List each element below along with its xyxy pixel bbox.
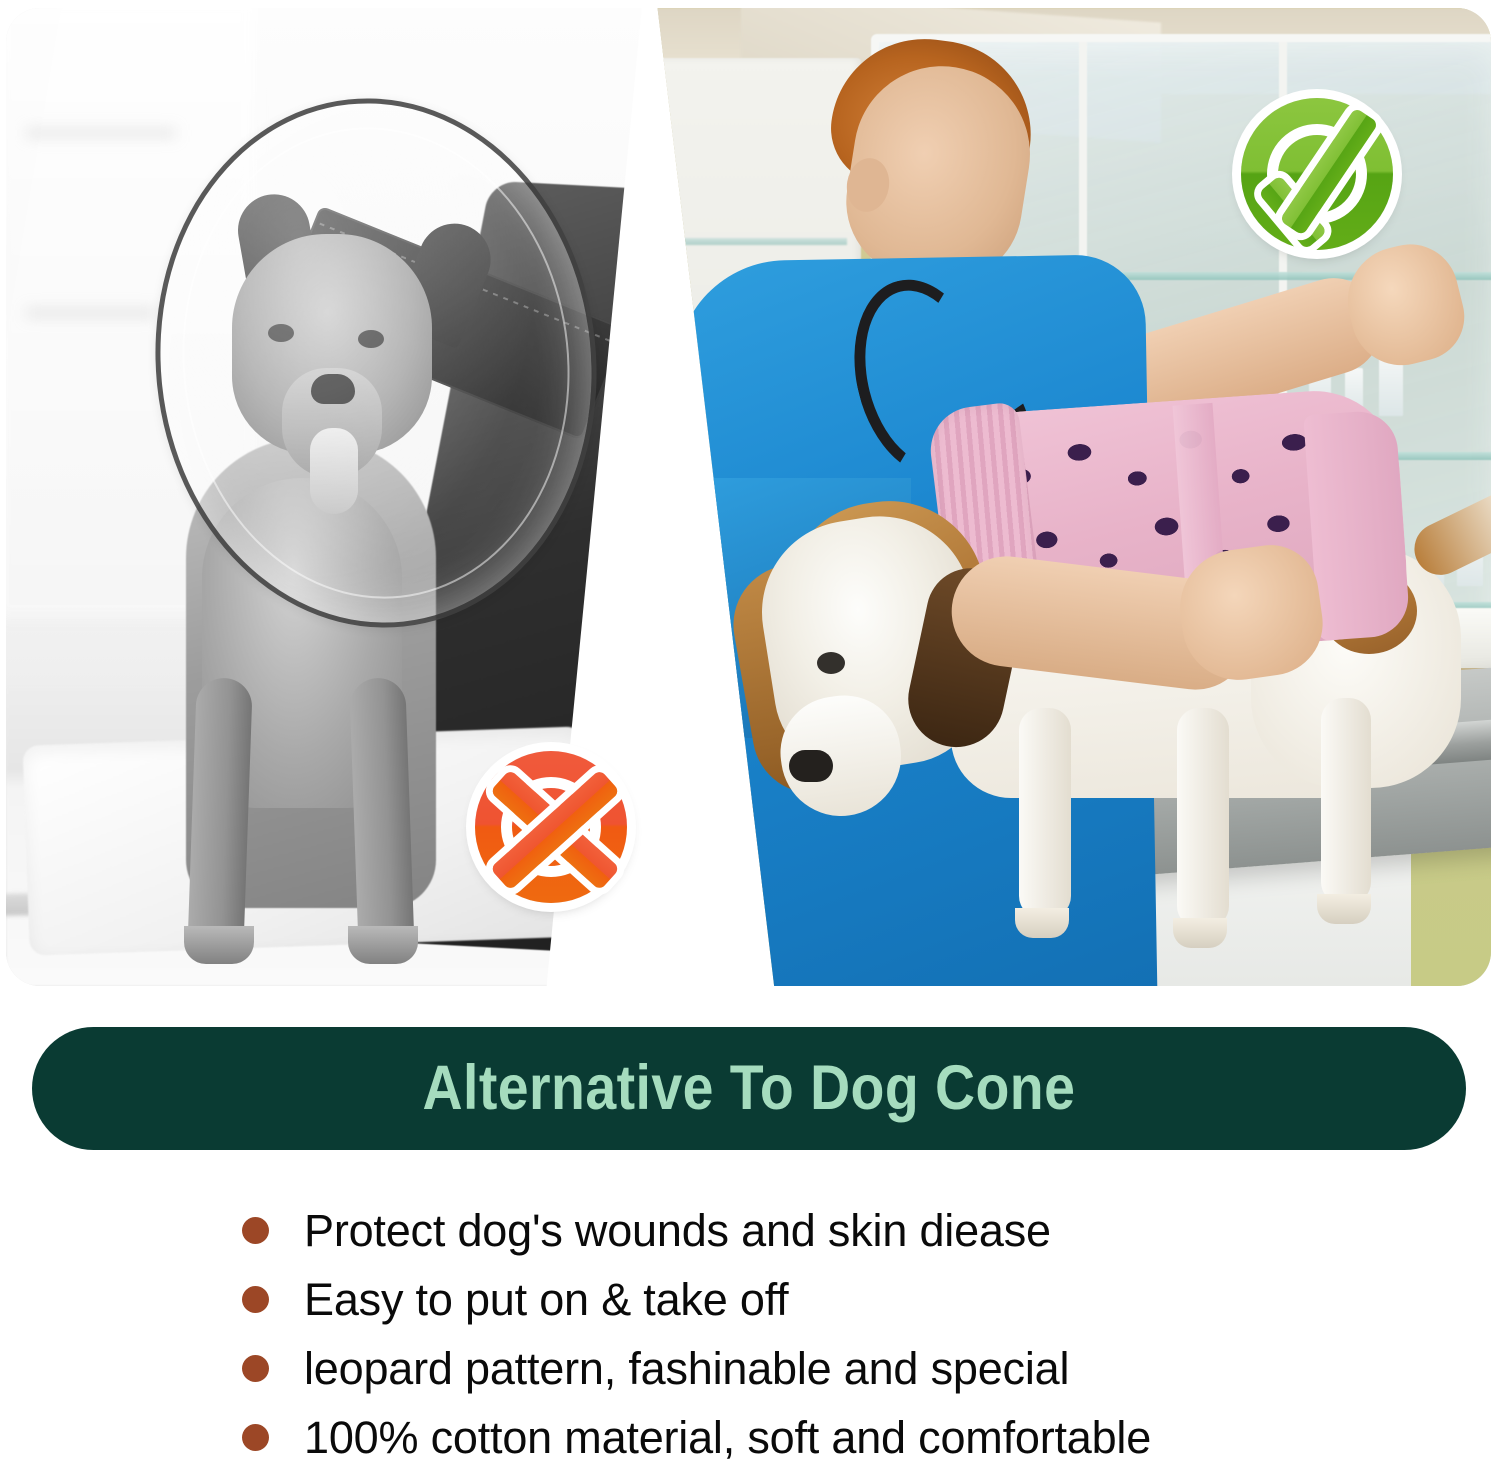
bullet-dot-icon	[242, 1424, 269, 1451]
beagle-paw	[1015, 908, 1069, 938]
bullet-dot-icon	[242, 1286, 269, 1313]
feature-text: Protect dog's wounds and skin diease	[304, 1208, 1051, 1253]
left-shelf-line	[26, 128, 176, 138]
left-shelf-line	[26, 308, 156, 318]
beagle-leg-rear	[1321, 698, 1371, 904]
cone-inner-ring	[159, 108, 592, 618]
list-item: Protect dog's wounds and skin diease	[0, 1196, 1497, 1265]
beagle-eye	[817, 652, 845, 674]
bullet-dot-icon	[242, 1355, 269, 1382]
beagle-leg-front	[1019, 708, 1071, 918]
comparison-hero	[0, 0, 1497, 995]
beagle-nose	[789, 750, 833, 782]
cone-dog-paw-right	[348, 926, 418, 964]
headline-banner: Alternative To Dog Cone	[32, 1027, 1466, 1150]
beagle-paw	[1317, 894, 1371, 924]
bullet-dot-icon	[242, 1217, 269, 1244]
feature-text: 100% cotton material, soft and comfortab…	[304, 1415, 1151, 1460]
list-item: leopard pattern, fashinable and special	[0, 1334, 1497, 1403]
page-title: Alternative To Dog Cone	[423, 1057, 1076, 1120]
list-item: Easy to put on & take off	[0, 1265, 1497, 1334]
cabinet-shelf	[625, 238, 847, 245]
cone-dog-leg-left	[187, 677, 253, 959]
cross-x-icon	[463, 739, 639, 915]
beagle-paw	[1173, 918, 1227, 948]
feature-text: leopard pattern, fashinable and special	[304, 1346, 1069, 1391]
list-item: 100% cotton material, soft and comfortab…	[0, 1403, 1497, 1472]
check-mark-icon	[1229, 86, 1405, 262]
beagle-leg-mid	[1177, 708, 1229, 928]
feature-list: Protect dog's wounds and skin diease Eas…	[0, 1196, 1497, 1472]
cone-dog-paw-left	[184, 926, 254, 964]
feature-text: Easy to put on & take off	[304, 1277, 789, 1322]
cone-dog-leg-right	[349, 677, 415, 959]
